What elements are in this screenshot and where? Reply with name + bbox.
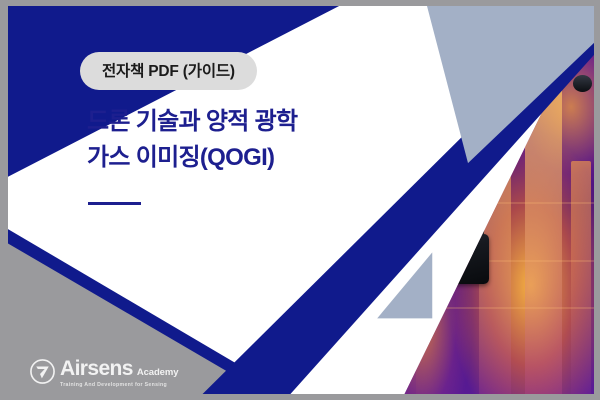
propeller-hub: [573, 75, 592, 92]
drone-accent-stripe: [386, 118, 425, 124]
format-badge: 전자책 PDF (가이드): [80, 52, 257, 90]
page-title-line-2: 가스 이미징(QOGI): [87, 140, 387, 176]
logo-tagline: Training And Development for Sensing: [60, 382, 178, 388]
ebook-cover-slide: 전자책 PDF (가이드) 드론 기술과 양적 광학 가스 이미징(QOGI) …: [0, 0, 600, 400]
logo-subword: Academy: [137, 368, 179, 378]
logo-text: Airsens Academy Training And Development…: [60, 358, 178, 388]
logo-wordmark: Airsens: [60, 358, 133, 379]
camera-lens-icon: [450, 248, 466, 265]
brand-logo: Airsens Academy Training And Development…: [30, 358, 178, 388]
title-underline-rule: [88, 202, 141, 205]
cover-card: 전자책 PDF (가이드) 드론 기술과 양적 광학 가스 이미징(QOGI) …: [8, 6, 594, 394]
airsens-swoosh-logo-icon: [30, 359, 55, 384]
page-title-line-1: 드론 기술과 양적 광학: [87, 104, 387, 140]
drone-accent-stripe: [389, 130, 447, 140]
page-title: 드론 기술과 양적 광학 가스 이미징(QOGI): [87, 104, 387, 177]
logo-name-row: Airsens Academy: [60, 358, 178, 379]
